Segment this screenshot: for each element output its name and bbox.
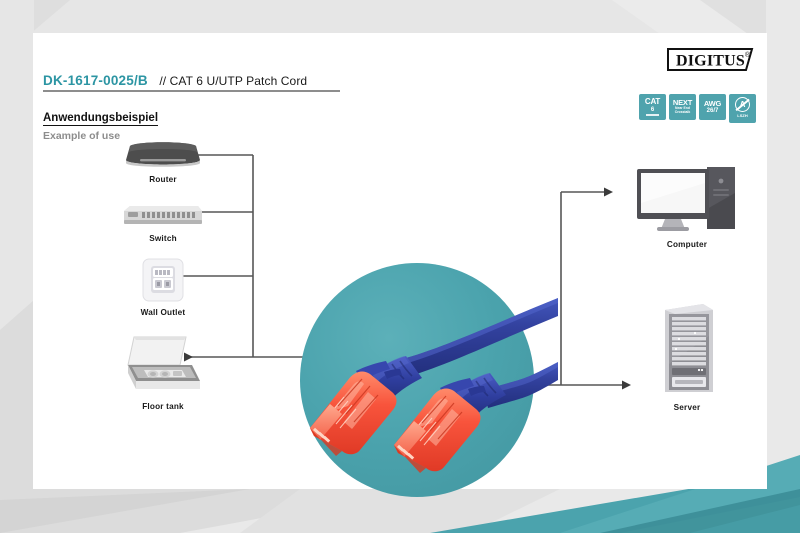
computer-label: Computer bbox=[626, 240, 748, 249]
next-badge-line3: Near End Crosstalk bbox=[669, 107, 696, 115]
awg-badge-line1: AWG bbox=[704, 100, 721, 108]
awg-badge: AWG 26/7 bbox=[699, 94, 726, 120]
lszh-badge: A LSZH bbox=[729, 94, 756, 123]
cable-upper bbox=[406, 298, 558, 376]
cat6-badge: CAT 6 bbox=[639, 94, 666, 120]
wall-outlet-icon bbox=[111, 257, 215, 303]
title-separator: // bbox=[159, 74, 166, 88]
logo-wordmark: DIGITUS bbox=[676, 53, 745, 70]
floor-tank-label: Floor tank bbox=[103, 402, 223, 411]
floor-tank-icon bbox=[103, 335, 223, 397]
switch-label: Switch bbox=[111, 234, 215, 243]
node-switch: Switch bbox=[111, 203, 215, 243]
router-label: Router bbox=[111, 175, 215, 184]
product-sku: DK-1617-0025/B bbox=[43, 73, 148, 88]
lszh-badge-icon: A bbox=[735, 97, 750, 112]
title-text: CAT 6 U/UTP Patch Cord bbox=[170, 74, 308, 88]
awg-badge-line2: 26/7 bbox=[707, 108, 719, 114]
wall-outlet-label: Wall Outlet bbox=[111, 308, 215, 317]
section-title-de: Anwendungsbeispiel bbox=[43, 112, 158, 126]
datasheet-page: DK-1617-0025/B // CAT 6 U/UTP Patch Cord… bbox=[0, 0, 800, 533]
node-wall-outlet: Wall Outlet bbox=[111, 257, 215, 317]
logo-mark: DIGITUS ® bbox=[666, 47, 762, 72]
digitus-logo: DIGITUS ® bbox=[666, 47, 762, 72]
lszh-badge-label: LSZH bbox=[737, 114, 747, 119]
server-icon bbox=[633, 302, 741, 398]
product-description: // CAT 6 U/UTP Patch Cord bbox=[159, 74, 307, 88]
certification-badges: CAT 6 NEXT Near End Crosstalk AWG 26/7 A… bbox=[639, 94, 756, 123]
rj45-connector-right bbox=[394, 373, 506, 473]
patch-cord-product-image bbox=[288, 250, 558, 510]
cat6-badge-line1: CAT bbox=[645, 98, 660, 106]
server-label: Server bbox=[633, 403, 741, 412]
header-divider bbox=[43, 90, 340, 92]
application-diagram: Router bbox=[33, 130, 767, 460]
computer-icon bbox=[626, 163, 748, 235]
node-computer: Computer bbox=[626, 163, 748, 249]
next-badge-line1: NEXT bbox=[673, 99, 692, 107]
cat6-badge-bar bbox=[646, 114, 659, 116]
page-title: DK-1617-0025/B // CAT 6 U/UTP Patch Cord bbox=[43, 72, 643, 92]
switch-icon bbox=[111, 203, 215, 229]
node-router: Router bbox=[111, 140, 215, 184]
node-floor-tank: Floor tank bbox=[103, 335, 223, 411]
next-badge: NEXT Near End Crosstalk bbox=[669, 94, 696, 120]
router-icon bbox=[111, 140, 215, 170]
cat6-badge-line2: 6 bbox=[651, 107, 654, 113]
logo-registered-mark: ® bbox=[745, 51, 751, 59]
node-server: Server bbox=[633, 302, 741, 412]
